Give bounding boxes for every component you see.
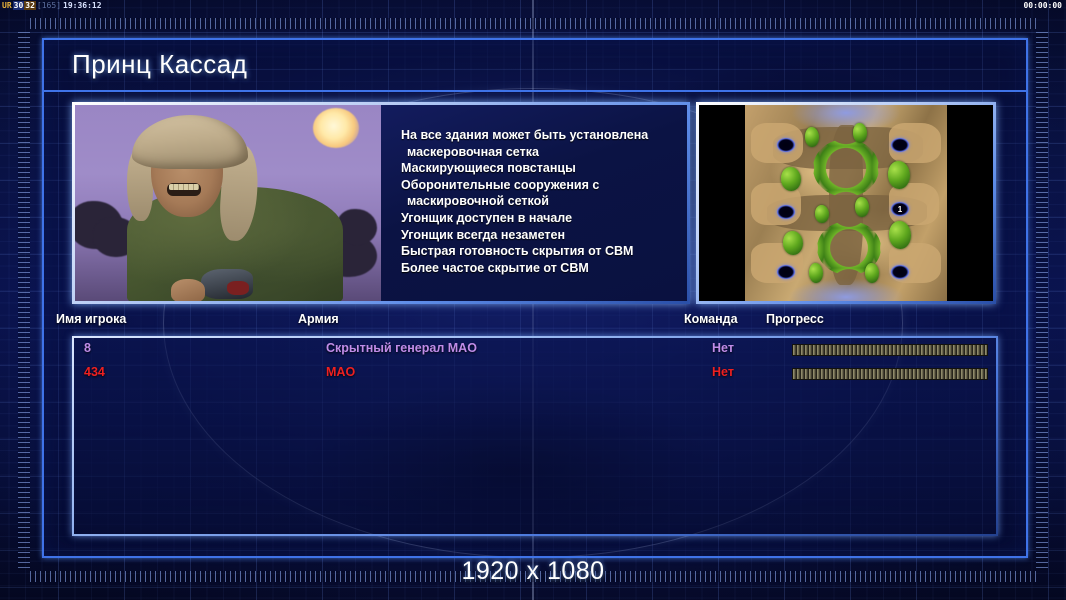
player-team[interactable]: Нет [712, 365, 734, 379]
lobby-dialog: Принц Кассад [42, 38, 1028, 558]
general-ability-list: На все здания может быть установлена мас… [401, 127, 679, 276]
player-name: 8 [84, 341, 91, 355]
ruler-left [18, 32, 30, 570]
debug-overlay-bar: UR3032[165]19:36:12 00:00:00 [0, 0, 1066, 11]
page-title: Принц Кассад [72, 49, 247, 80]
debug-value-3: [165] [36, 1, 62, 10]
general-panel: На все здания может быть установлена мас… [72, 102, 690, 304]
ability-line: На все здания может быть установлена [401, 127, 679, 144]
column-header-progress: Прогресс [766, 312, 824, 326]
spawn-marker[interactable] [777, 265, 795, 279]
player-name: 434 [84, 365, 105, 379]
tree-cluster [888, 161, 910, 189]
ability-line: Быстрая готовность скрытия от СВМ [401, 243, 679, 260]
spawn-marker[interactable] [777, 205, 795, 219]
tree-cluster [809, 263, 823, 283]
dialog-titlebar: Принц Кассад [44, 40, 1026, 92]
player-army[interactable]: MAO [326, 365, 355, 379]
debug-value-2: 32 [24, 1, 36, 10]
teeth [169, 184, 199, 190]
debug-value-1: 30 [13, 1, 25, 10]
foliage-shape [337, 209, 377, 245]
tree-cluster [853, 123, 867, 143]
player-list-headers: Имя игрока Армия Команда Прогресс [44, 312, 1026, 336]
ability-line: маскеровочная сетка [401, 144, 679, 161]
tree-ring [813, 139, 879, 197]
general-info-row: На все здания может быть установлена мас… [44, 92, 1026, 312]
match-timer: 00:00:00 [1023, 0, 1062, 11]
map-preview-panel[interactable]: 1 [696, 102, 996, 304]
game-screen: UR3032[165]19:36:12 00:00:00 Принц Касса… [0, 0, 1066, 600]
ruler-right [1036, 32, 1048, 570]
hand [171, 279, 205, 301]
column-header-name: Имя игрока [56, 312, 126, 326]
debug-stats: UR3032[165]19:36:12 [1, 0, 103, 11]
general-description-area: На все здания может быть установлена мас… [381, 105, 687, 301]
tree-cluster [865, 263, 879, 283]
ability-line: маскировочной сеткой [401, 193, 679, 210]
spawn-marker[interactable] [891, 138, 909, 152]
debug-clock: 19:36:12 [62, 1, 103, 10]
tree-cluster [855, 197, 869, 217]
ability-line: Маскирующиеся повстанцы [401, 160, 679, 177]
table-row[interactable]: 8 Скрытный генерал MAO Нет [74, 338, 996, 362]
player-progress-bar [792, 368, 988, 380]
tree-cluster [781, 167, 801, 191]
weapon [201, 269, 253, 299]
map-preview-image: 1 [745, 105, 947, 301]
general-portrait-image [75, 105, 381, 301]
spawn-marker[interactable] [891, 265, 909, 279]
sun-icon [313, 108, 359, 148]
debug-prefix: UR [1, 1, 13, 10]
tree-cluster [815, 205, 829, 223]
ability-line: Более частое скрытие от СВМ [401, 260, 679, 277]
player-team[interactable]: Нет [712, 341, 734, 355]
player-progress-bar [792, 344, 988, 356]
player-list-panel: 8 Скрытный генерал MAO Нет 434 MAO Нет [72, 336, 998, 536]
ability-line: Угонщик всегда незаметен [401, 227, 679, 244]
spawn-marker-label: 1 [891, 202, 909, 216]
column-header-army: Армия [298, 312, 339, 326]
tree-cluster [805, 127, 819, 147]
ability-line: Оборонительные сооружения с [401, 177, 679, 194]
player-army[interactable]: Скрытный генерал MAO [326, 341, 477, 355]
tree-cluster [889, 221, 911, 249]
column-header-team: Команда [684, 312, 738, 326]
tree-cluster [783, 231, 803, 255]
ruler-top [30, 18, 1036, 29]
head-wrap [132, 115, 248, 169]
table-row[interactable]: 434 MAO Нет [74, 362, 996, 386]
spawn-marker[interactable] [777, 138, 795, 152]
resolution-overlay: 1920 x 1080 [0, 557, 1066, 586]
spawn-marker-1[interactable]: 1 [891, 202, 909, 216]
ability-line: Угонщик доступен в начале [401, 210, 679, 227]
